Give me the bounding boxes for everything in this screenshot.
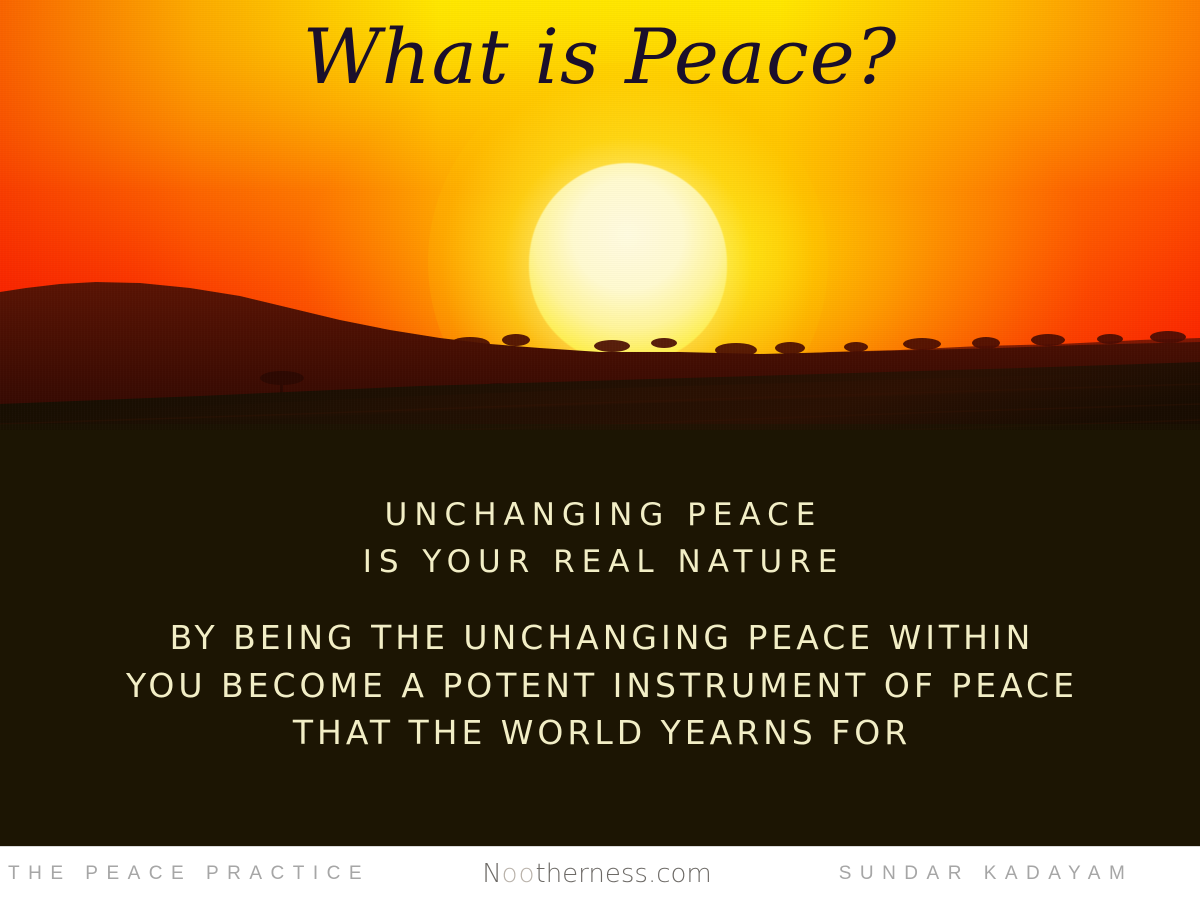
page-title: What is Peace? (0, 16, 1200, 98)
footer-brand-logo[interactable]: Nootherness.com (408, 859, 786, 889)
quote-secondary-line-3: THAT THE WORLD YEARNS FOR (0, 709, 1200, 757)
brand-oo-glyph: oo (502, 859, 536, 889)
brand-prefix: N (482, 859, 501, 889)
quote-primary: UNCHANGING PEACE IS YOUR REAL NATURE (0, 492, 1200, 586)
quote-secondary-line-2: YOU BECOME A POTENT INSTRUMENT OF PEACE (0, 662, 1200, 710)
footer-series-label: THE PEACE PRACTICE (0, 863, 408, 885)
quote-primary-line-2: IS YOUR REAL NATURE (0, 539, 1200, 586)
quote-primary-line-1: UNCHANGING PEACE (0, 492, 1200, 539)
slide-canvas: What is Peace? UNCHANGING PEACE IS YOUR … (0, 0, 1200, 900)
brand-suffix: therness.com (536, 859, 712, 889)
footer-author-label: SUNDAR KADAYAM (786, 863, 1200, 885)
footer-bar: THE PEACE PRACTICE Nootherness.com SUNDA… (0, 846, 1200, 900)
quote-secondary-line-1: BY BEING THE UNCHANGING PEACE WITHIN (0, 614, 1200, 662)
quote-secondary: BY BEING THE UNCHANGING PEACE WITHIN YOU… (0, 614, 1200, 757)
